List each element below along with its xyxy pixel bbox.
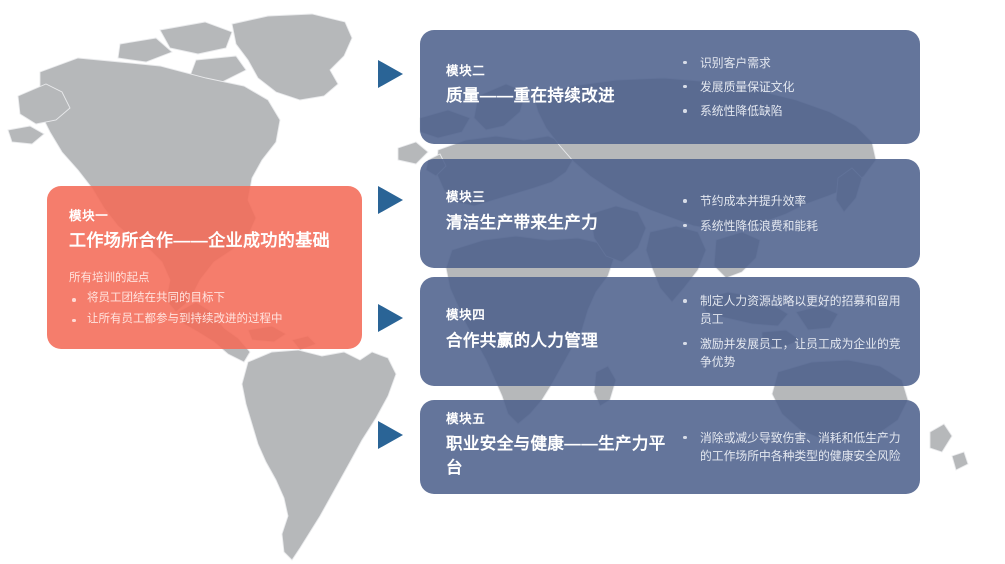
list-item: 让所有员工都参与到持续改进的过程中 [69,314,283,326]
module-card-three[interactable]: 模块三 清洁生产带来生产力 节约成本并提升效率 系统性降低浪费和能耗 [420,159,920,268]
list-item: 将员工团结在共同的目标下 [69,293,283,305]
module-five-eyebrow: 模块五 [446,413,678,427]
module-four-bullets: 制定人力资源战略以更好的招募和留用员工 激励并发展员工，让员工成为企业的竞争优势 [678,292,920,371]
module-five-bullets: 消除或减少导致伤害、消耗和低生产力的工作场所中各种类型的健康安全风险 [678,429,920,466]
list-item: 发展质量保证文化 [678,78,902,96]
arrow-right-icon-two [378,186,403,214]
module-cards-container: 模块一 工作场所合作——企业成功的基础 所有培训的起点 将员工团结在共同的目标下… [0,0,1005,564]
module-five-heading-group: 模块五 职业安全与健康——生产力平台 [446,413,678,482]
list-item: 节约成本并提升效率 [678,192,902,210]
module-one-bullet-list: 将员工团结在共同的目标下 让所有员工都参与到持续改进的过程中 [69,293,283,325]
arrow-right-icon-one [378,60,403,88]
list-item: 制定人力资源战略以更好的招募和留用员工 [678,292,902,329]
module-five-title: 职业安全与健康——生产力平台 [446,433,678,481]
arrow-right-icon-three [378,304,403,332]
module-one-eyebrow: 模块一 [69,210,108,224]
module-two-heading-group: 模块二 质量——重在持续改进 [446,65,678,110]
module-four-bullet-list: 制定人力资源战略以更好的招募和留用员工 激励并发展员工，让员工成为企业的竞争优势 [678,292,902,371]
module-three-bullet-list: 节约成本并提升效率 系统性降低浪费和能耗 [678,192,902,235]
module-card-four[interactable]: 模块四 合作共赢的人力管理 制定人力资源战略以更好的招募和留用员工 激励并发展员… [420,277,920,386]
module-card-five[interactable]: 模块五 职业安全与健康——生产力平台 消除或减少导致伤害、消耗和低生产力的工作场… [420,400,920,494]
module-two-eyebrow: 模块二 [446,65,678,79]
module-card-two[interactable]: 模块二 质量——重在持续改进 识别客户需求 发展质量保证文化 系统性降低缺陷 [420,30,920,144]
arrow-right-icon-four [378,421,403,449]
module-two-bullet-list: 识别客户需求 发展质量保证文化 系统性降低缺陷 [678,54,902,121]
list-item: 激励并发展员工，让员工成为企业的竞争优势 [678,335,902,372]
list-item: 消除或减少导致伤害、消耗和低生产力的工作场所中各种类型的健康安全风险 [678,429,902,466]
list-item: 系统性降低浪费和能耗 [678,217,902,235]
module-three-heading-group: 模块三 清洁生产带来生产力 [446,191,678,236]
module-one-subtitle: 所有培训的起点 [69,272,150,286]
list-item: 系统性降低缺陷 [678,102,902,120]
module-three-title: 清洁生产带来生产力 [446,212,678,236]
module-two-title: 质量——重在持续改进 [446,85,678,109]
module-three-bullets: 节约成本并提升效率 系统性降低浪费和能耗 [678,192,920,235]
module-four-eyebrow: 模块四 [446,309,678,323]
module-five-bullet-list: 消除或减少导致伤害、消耗和低生产力的工作场所中各种类型的健康安全风险 [678,429,902,466]
module-four-heading-group: 模块四 合作共赢的人力管理 [446,309,678,354]
module-card-one[interactable]: 模块一 工作场所合作——企业成功的基础 所有培训的起点 将员工团结在共同的目标下… [47,186,362,349]
module-one-title: 工作场所合作——企业成功的基础 [69,230,330,251]
module-four-title: 合作共赢的人力管理 [446,330,678,354]
list-item: 识别客户需求 [678,54,902,72]
module-two-bullets: 识别客户需求 发展质量保证文化 系统性降低缺陷 [678,54,920,121]
module-three-eyebrow: 模块三 [446,191,678,205]
